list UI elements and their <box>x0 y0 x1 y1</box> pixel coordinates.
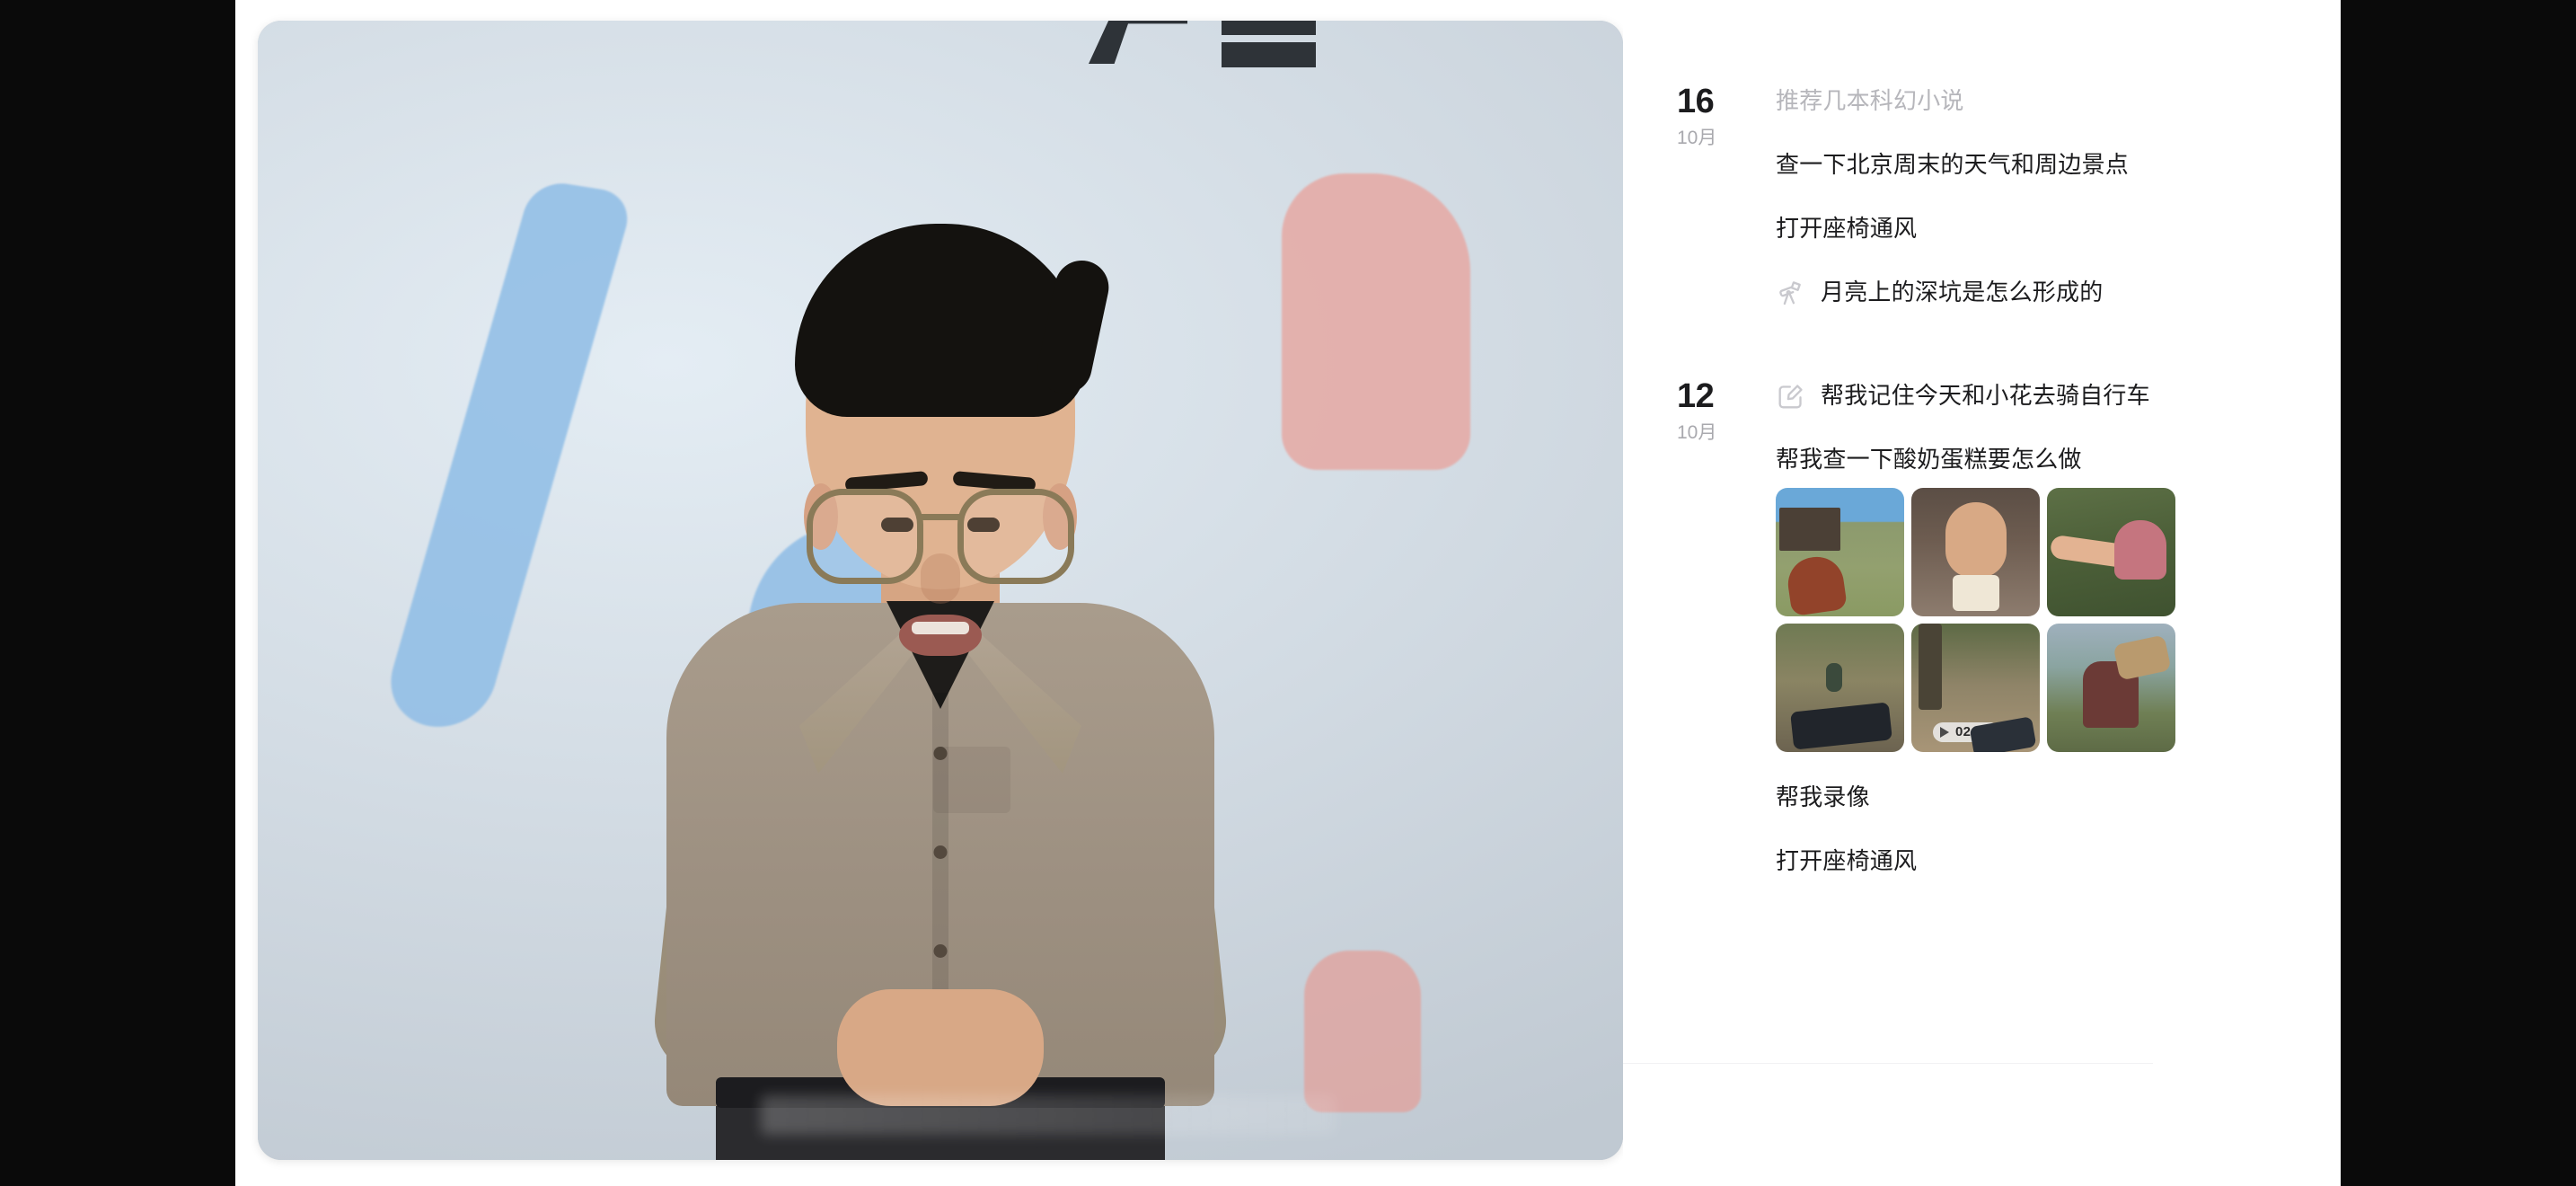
history-date-month: 10月 <box>1677 423 1776 442</box>
history-item[interactable]: 查一下北京周末的天气和周边景点 <box>1776 146 2144 184</box>
presenter-figure <box>599 154 1282 1160</box>
history-item[interactable]: 帮我录像 <box>1776 779 2175 817</box>
history-item[interactable]: 打开座椅通风 <box>1776 210 2144 248</box>
video-watermark <box>761 1095 1336 1135</box>
presenter-mouth <box>899 615 982 656</box>
shirt-button <box>934 845 948 859</box>
presentation-video[interactable] <box>258 21 1623 1160</box>
presenter-nose <box>921 553 960 604</box>
history-section-divider <box>1623 1063 2153 1064</box>
history-item[interactable]: 打开座椅通风 <box>1776 843 2175 881</box>
media-thumbnail[interactable] <box>1776 488 1904 616</box>
history-item-label: 查一下北京周末的天气和周边景点 <box>1776 149 2129 181</box>
media-thumbnail[interactable] <box>1776 624 1904 752</box>
history-entry-items: 推荐几本科幻小说 查一下北京周末的天气和周边景点 打开座椅通风 <box>1776 83 2144 312</box>
history-item[interactable]: 帮我查一下酸奶蛋糕要怎么做 <box>1776 441 2175 479</box>
presenter-hair <box>795 224 1086 417</box>
letterbox-band-right <box>2341 0 2576 1186</box>
history-date-day: 12 <box>1677 379 1776 413</box>
backdrop-script-tail-pink <box>1304 951 1421 1112</box>
history-item-label: 帮我录像 <box>1776 782 1870 813</box>
shirt-button <box>934 944 948 958</box>
media-thumbnail[interactable] <box>2047 488 2175 616</box>
history-item-label: 打开座椅通风 <box>1776 845 1917 877</box>
video-duration-label: 02:23 <box>1955 724 1991 739</box>
history-entry: 16 10月 推荐几本科幻小说 查一下北京周末的天气和周边景点 打开座椅通风 <box>1677 83 2144 312</box>
telescope-icon <box>1776 279 1805 308</box>
media-thumbnail-video[interactable]: 02:23 <box>1911 624 2040 752</box>
history-entry-items: 帮我记住今天和小花去骑自行车 帮我查一下酸奶蛋糕要怎么做 02:23 <box>1776 377 2175 881</box>
history-item[interactable]: 推荐几本科幻小说 <box>1776 83 2144 120</box>
history-item[interactable]: 月亮上的深坑是怎么形成的 <box>1776 274 2144 312</box>
backdrop-script-stroke-pink <box>1282 173 1470 470</box>
history-panel: 16 10月 推荐几本科幻小说 查一下北京周末的天气和周边景点 打开座椅通风 <box>1623 0 2341 1186</box>
presenter-hands <box>837 989 1044 1106</box>
media-thumbnail[interactable] <box>1911 488 2040 616</box>
video-duration-badge: 02:23 <box>1933 722 2000 742</box>
history-item[interactable]: 帮我记住今天和小花去骑自行车 <box>1776 377 2175 415</box>
history-item-label: 推荐几本科幻小说 <box>1776 85 1964 117</box>
history-item-label: 帮我记住今天和小花去骑自行车 <box>1821 380 2150 412</box>
stage-logo-glyph <box>1089 21 1322 67</box>
history-entry-date: 16 10月 <box>1677 83 1776 312</box>
history-entry-date: 12 10月 <box>1677 377 1776 881</box>
video-column <box>235 0 1623 1186</box>
history-date-month: 10月 <box>1677 128 1776 147</box>
history-date-day: 16 <box>1677 84 1776 119</box>
play-icon <box>1940 727 1949 738</box>
history-item-label: 帮我查一下酸奶蛋糕要怎么做 <box>1776 444 2082 475</box>
media-thumbnail-grid: 02:23 <box>1776 488 2175 752</box>
history-entry: 12 10月 帮我记住今天和小花去骑自行车 帮我查一下酸奶蛋糕要怎么做 <box>1677 377 2144 881</box>
note-edit-icon <box>1776 382 1805 412</box>
history-item-label: 月亮上的深坑是怎么形成的 <box>1821 277 2103 308</box>
app-page: 16 10月 推荐几本科幻小说 查一下北京周末的天气和周边景点 打开座椅通风 <box>235 0 2341 1186</box>
letterbox-band-left <box>0 0 235 1186</box>
shirt-pocket <box>933 747 1010 813</box>
media-thumbnail[interactable] <box>2047 624 2175 752</box>
history-item-label: 打开座椅通风 <box>1776 213 1917 244</box>
